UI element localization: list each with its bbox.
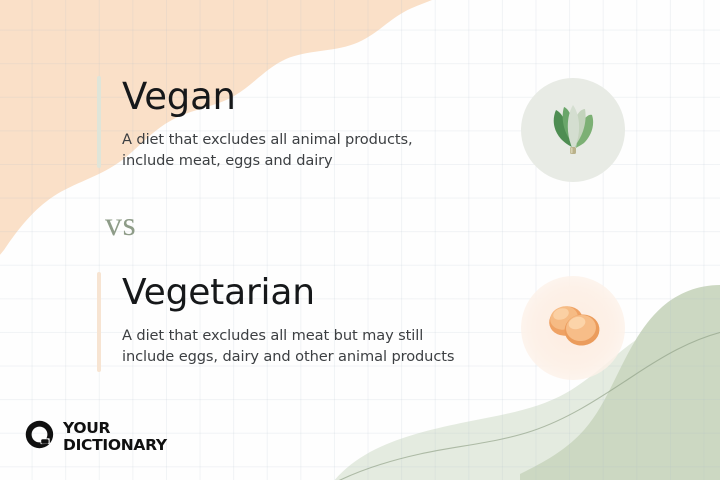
vegetarian-icon-bubble [521, 276, 625, 380]
vegan-icon-bubble [521, 78, 625, 182]
entry-vegetarian: Vegetarian A diet that excludes all meat… [97, 272, 454, 372]
brand-logo[interactable]: YOUR DICTIONARY [25, 420, 167, 454]
q-ring-icon [25, 420, 54, 454]
entry-vegan: Vegan A diet that excludes all animal pr… [97, 76, 413, 171]
leaf-bundle-icon [542, 97, 604, 164]
logo-wordmark: YOUR DICTIONARY [63, 420, 167, 454]
eggs-icon [541, 297, 605, 360]
versus-separator: vs [105, 205, 136, 245]
term-title-vegan: Vegan [122, 76, 413, 118]
infographic-canvas: Vegan A diet that excludes all animal pr… [0, 0, 720, 480]
accent-bar-vegetarian [97, 272, 101, 372]
accent-bar-vegan [97, 76, 101, 168]
logo-line-2: DICTIONARY [63, 437, 167, 454]
logo-line-1: YOUR [63, 420, 167, 437]
definition-vegetarian: A diet that excludes all meat but may st… [122, 325, 454, 367]
term-title-vegetarian: Vegetarian [122, 272, 454, 314]
definition-vegan: A diet that excludes all animal products… [122, 129, 413, 171]
